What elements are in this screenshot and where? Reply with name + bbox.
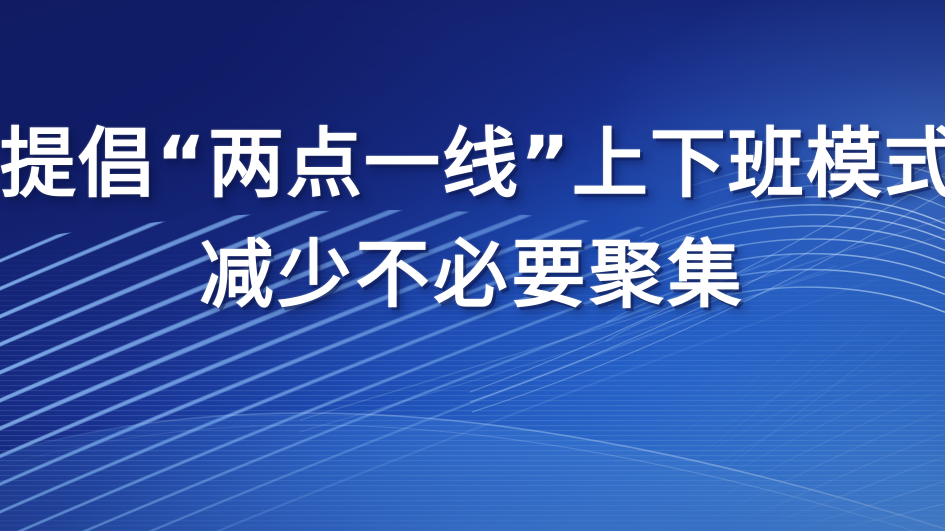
headline-line-1: 提倡“两点一线”上下班模式 bbox=[0, 126, 945, 202]
headline-line-2: 减少不必要聚集 bbox=[0, 238, 945, 312]
headline-block: 提倡“两点一线”上下班模式 减少不必要聚集 bbox=[0, 126, 945, 312]
poster-canvas: 提倡“两点一线”上下班模式 减少不必要聚集 bbox=[0, 0, 945, 531]
